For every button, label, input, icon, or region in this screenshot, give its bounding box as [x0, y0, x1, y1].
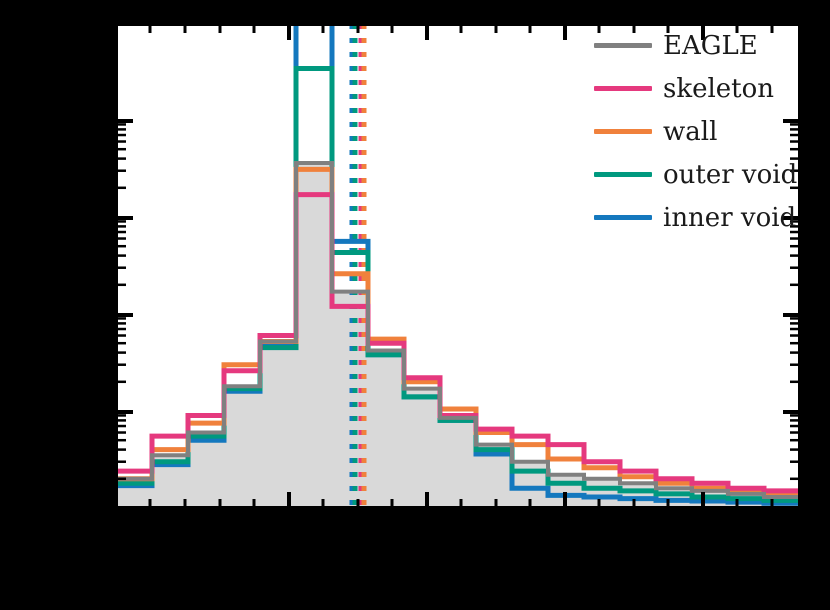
legend-label-skeleton: skeleton	[663, 76, 774, 102]
legend-swatch-wall	[594, 129, 652, 134]
legend-entry-wall: wall	[594, 110, 812, 153]
legend-entry-eagle: EAGLE	[594, 24, 812, 67]
figure-root: EAGLE skeleton wall outer void inner voi…	[0, 0, 830, 610]
legend-swatch-eagle	[594, 43, 652, 48]
legend-label-outer-void: outer void	[663, 162, 797, 188]
legend-entry-skeleton: skeleton	[594, 67, 812, 110]
legend-label-wall: wall	[663, 119, 717, 145]
legend-entry-inner-void: inner void	[594, 196, 812, 239]
legend-entry-outer-void: outer void	[594, 153, 812, 196]
legend: EAGLE skeleton wall outer void inner voi…	[594, 24, 812, 239]
legend-swatch-inner-void	[594, 215, 652, 220]
legend-swatch-skeleton	[594, 86, 652, 91]
legend-label-inner-void: inner void	[663, 205, 796, 231]
legend-label-eagle: EAGLE	[663, 33, 758, 59]
legend-swatch-outer-void	[594, 172, 652, 177]
